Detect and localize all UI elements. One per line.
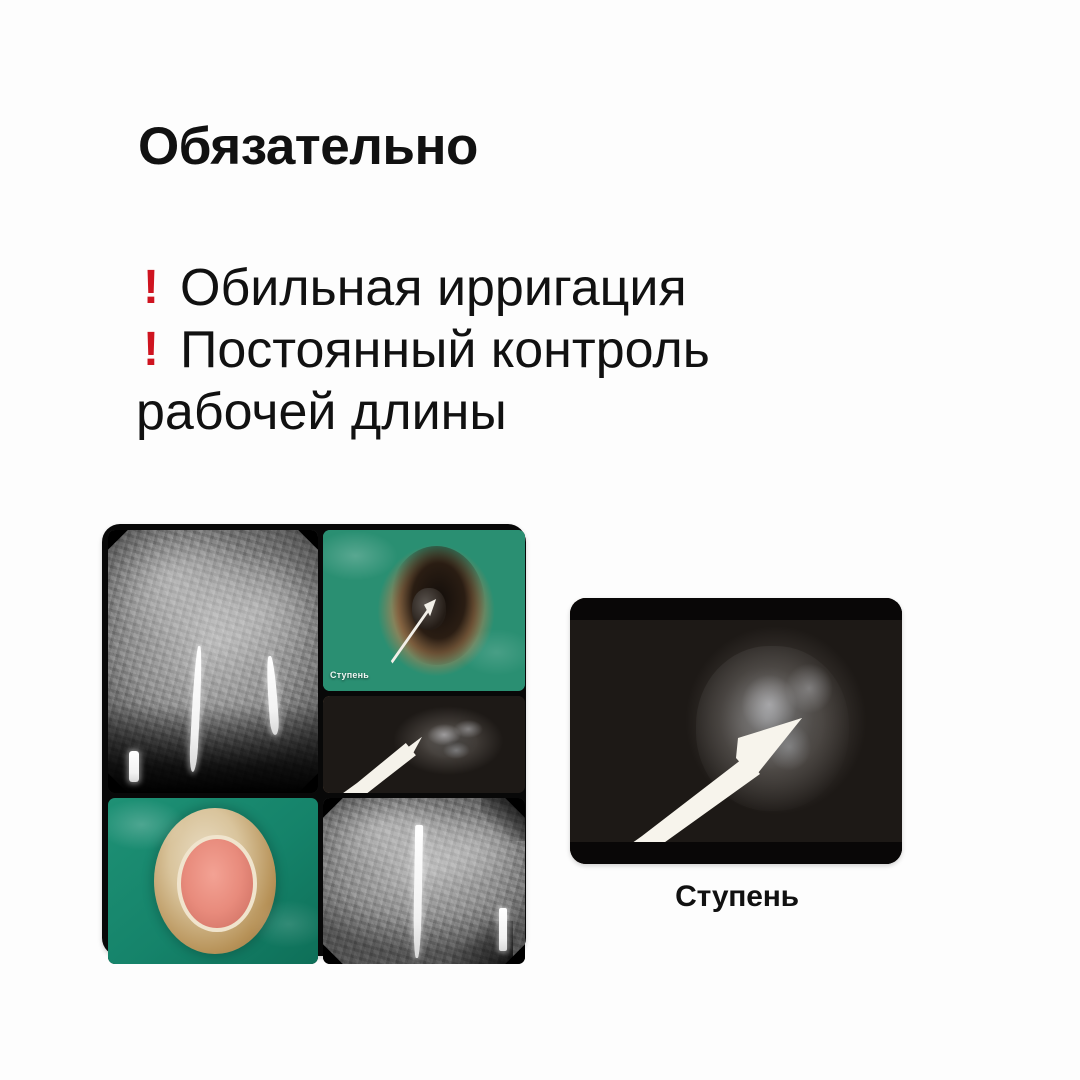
list-item-continuation: рабочей длины	[136, 382, 936, 444]
letterbox-bar	[570, 842, 902, 864]
collage-tile-xray-bottom[interactable]	[323, 798, 525, 964]
exclamation-icon: !	[136, 321, 166, 378]
requirements-list: !Обильная ирригация !Постоянный контроль…	[136, 258, 936, 444]
pointer-arrow-icon	[570, 598, 902, 864]
list-item-label: Обильная ирригация	[180, 259, 687, 317]
page-title: Обязательно	[138, 118, 478, 176]
image-caption: Ступень	[572, 880, 902, 914]
collage-tile-xray-top[interactable]	[108, 530, 318, 793]
step-annotation-label: Ступень	[330, 670, 369, 680]
radiograph-shadow	[108, 704, 318, 793]
restoration-mark	[129, 751, 139, 783]
dam-highlight	[108, 798, 318, 964]
slide-root: Обязательно !Обильная ирригация !Постоян…	[0, 0, 1080, 1080]
list-item: !Обильная ирригация	[136, 258, 936, 320]
letterbox-bar	[570, 598, 902, 620]
step-closeup-photo[interactable]	[570, 598, 902, 864]
list-item: !Постоянный контроль	[136, 320, 936, 382]
clinical-case-collage[interactable]: Ступень	[102, 524, 526, 956]
root-filling-mark	[499, 908, 507, 951]
pointer-arrow-icon	[323, 696, 525, 793]
collage-tile-photo-step[interactable]: Ступень	[323, 530, 525, 691]
exclamation-icon: !	[136, 259, 166, 316]
pointer-arrow-icon	[323, 530, 525, 691]
list-item-label: Постоянный контроль	[180, 321, 710, 379]
collage-tile-photo-arrow[interactable]	[323, 696, 525, 793]
collage-tile-photo-pulp[interactable]	[108, 798, 318, 964]
